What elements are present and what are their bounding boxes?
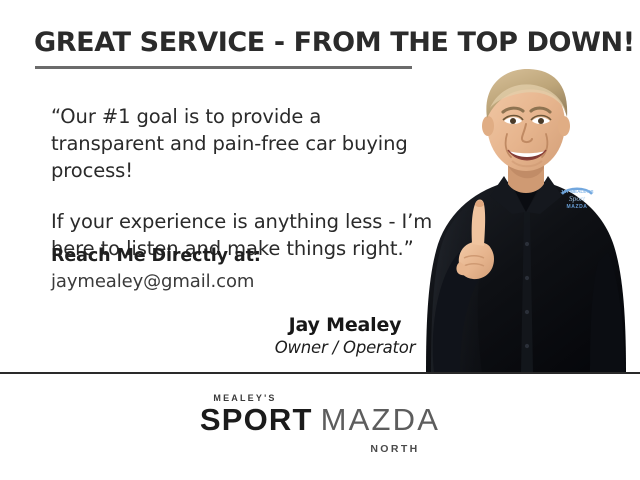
logo-main-line: SPORTMAZDA: [0, 405, 640, 441]
quote-paragraph-1: “Our #1 goal is to provide a transparent…: [51, 103, 436, 184]
svg-text:MAZDA: MAZDA: [566, 204, 587, 210]
logo-word-sport: SPORT: [200, 402, 313, 437]
page-title: GREAT SERVICE - FROM THE TOP DOWN!: [34, 27, 626, 58]
advertisement-card: GREAT SERVICE - FROM THE TOP DOWN!: [0, 0, 640, 480]
owner-role: Owner / Operator: [245, 337, 445, 359]
owner-name: Jay Mealey: [245, 313, 445, 337]
logo-brand-top: MEALEY'S: [0, 392, 640, 404]
dealership-logo: MEALEY'S SPORTMAZDA NORTH: [0, 392, 640, 456]
logo-word-mazda: MAZDA: [321, 402, 441, 437]
footer-divider: [0, 372, 640, 374]
contact-label: Reach Me Directly at:: [51, 244, 261, 268]
contact-block: Reach Me Directly at: jaymealey@gmail.co…: [51, 244, 261, 295]
signature-block: Jay Mealey Owner / Operator: [245, 313, 445, 359]
owner-photo: JAY MEALEY'S Sport MAZDA: [412, 62, 640, 373]
logo-word-north: NORTH: [150, 442, 640, 456]
owner-quote: “Our #1 goal is to provide a transparent…: [51, 103, 436, 262]
contact-email[interactable]: jaymealey@gmail.com: [51, 269, 261, 295]
svg-text:Sport: Sport: [569, 194, 586, 203]
